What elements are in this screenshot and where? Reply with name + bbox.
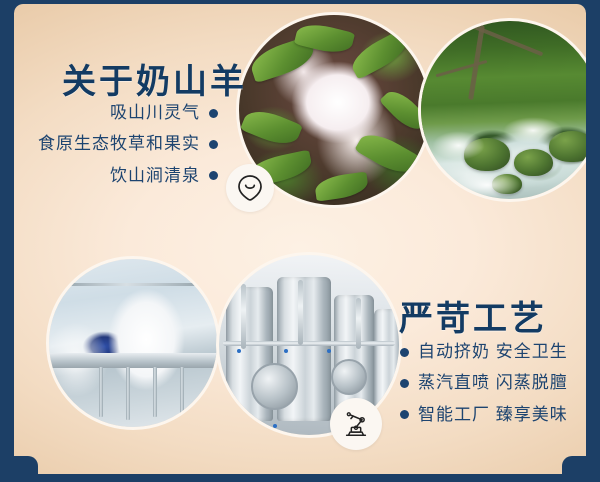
valve-marker [237, 349, 241, 353]
mossy-rock-shape [514, 149, 553, 176]
rail-bar-shape [126, 367, 130, 421]
bullet-dot-icon [209, 171, 218, 180]
goat-milking-parlor-photo [46, 256, 220, 430]
card-notch-bottom-left [14, 456, 38, 482]
tank-hatch-shape [331, 359, 367, 395]
rail-bar-shape [180, 367, 184, 414]
horizontal-pipe-shape [223, 341, 396, 346]
vertical-pipe-shape [356, 298, 361, 348]
bullet-label: 蒸汽直喷 闪蒸脱膻 [418, 370, 568, 396]
smile-pin-icon [226, 164, 274, 212]
bullet-item: 智能工厂 臻享美味 [400, 402, 568, 428]
valve-marker [284, 349, 288, 353]
bullet-item: 自动挤奶 安全卫生 [400, 339, 568, 365]
vertical-pipe-shape [241, 284, 246, 349]
valve-marker [327, 349, 331, 353]
promo-poster: 关于奶山羊 吸山川灵气 食原生态牧草和果实 饮山涧清泉 严苛工艺 自动挤奶 安全… [0, 0, 600, 482]
bullet-item: 吸山川灵气 [110, 100, 218, 126]
bullet-dot-icon [209, 140, 218, 149]
ceiling-rail-shape [66, 283, 200, 286]
water-foam-shape [432, 131, 485, 159]
section-headline-strict-craft: 严苛工艺 [399, 291, 547, 340]
bullet-dot-icon [400, 379, 409, 388]
bullet-list-strict-craft: 自动挤奶 安全卫生 蒸汽直喷 闪蒸脱膻 智能工厂 臻享美味 [400, 339, 568, 428]
bullet-dot-icon [400, 410, 409, 419]
bullet-label: 食原生态牧草和果实 [38, 131, 200, 157]
card-bottom-edge [14, 474, 586, 482]
section-headline-about-dairy-goat: 关于奶山羊 [62, 54, 247, 103]
bullet-label: 智能工厂 臻享美味 [418, 402, 568, 428]
rail-bar-shape [99, 367, 103, 417]
water-foam-shape [453, 171, 521, 199]
bullet-label: 饮山涧清泉 [110, 163, 200, 189]
bullet-label: 自动挤奶 安全卫生 [418, 339, 568, 365]
bullet-dot-icon [400, 348, 409, 357]
bullet-item: 蒸汽直喷 闪蒸脱膻 [400, 370, 568, 396]
bullet-item: 食原生态牧草和果实 [38, 131, 218, 157]
bullet-dot-icon [209, 109, 218, 118]
bullet-item: 饮山涧清泉 [110, 163, 218, 189]
tank-hatch-shape [251, 363, 298, 410]
robot-arm-icon [330, 398, 382, 450]
steel-counter-shape [46, 353, 220, 368]
card-notch-bottom-right [562, 456, 586, 482]
steel-tank-shape [374, 309, 402, 421]
rail-bar-shape [153, 367, 157, 417]
water-foam-shape [503, 117, 564, 144]
forest-stream-photo [418, 18, 586, 202]
poster-card: 关于奶山羊 吸山川灵气 食原生态牧草和果实 饮山涧清泉 严苛工艺 自动挤奶 安全… [14, 4, 586, 474]
bullet-label: 吸山川灵气 [110, 100, 200, 126]
bullet-list-about-dairy-goat: 吸山川灵气 食原生态牧草和果实 饮山涧清泉 [38, 100, 218, 189]
vertical-pipe-shape [298, 280, 303, 345]
